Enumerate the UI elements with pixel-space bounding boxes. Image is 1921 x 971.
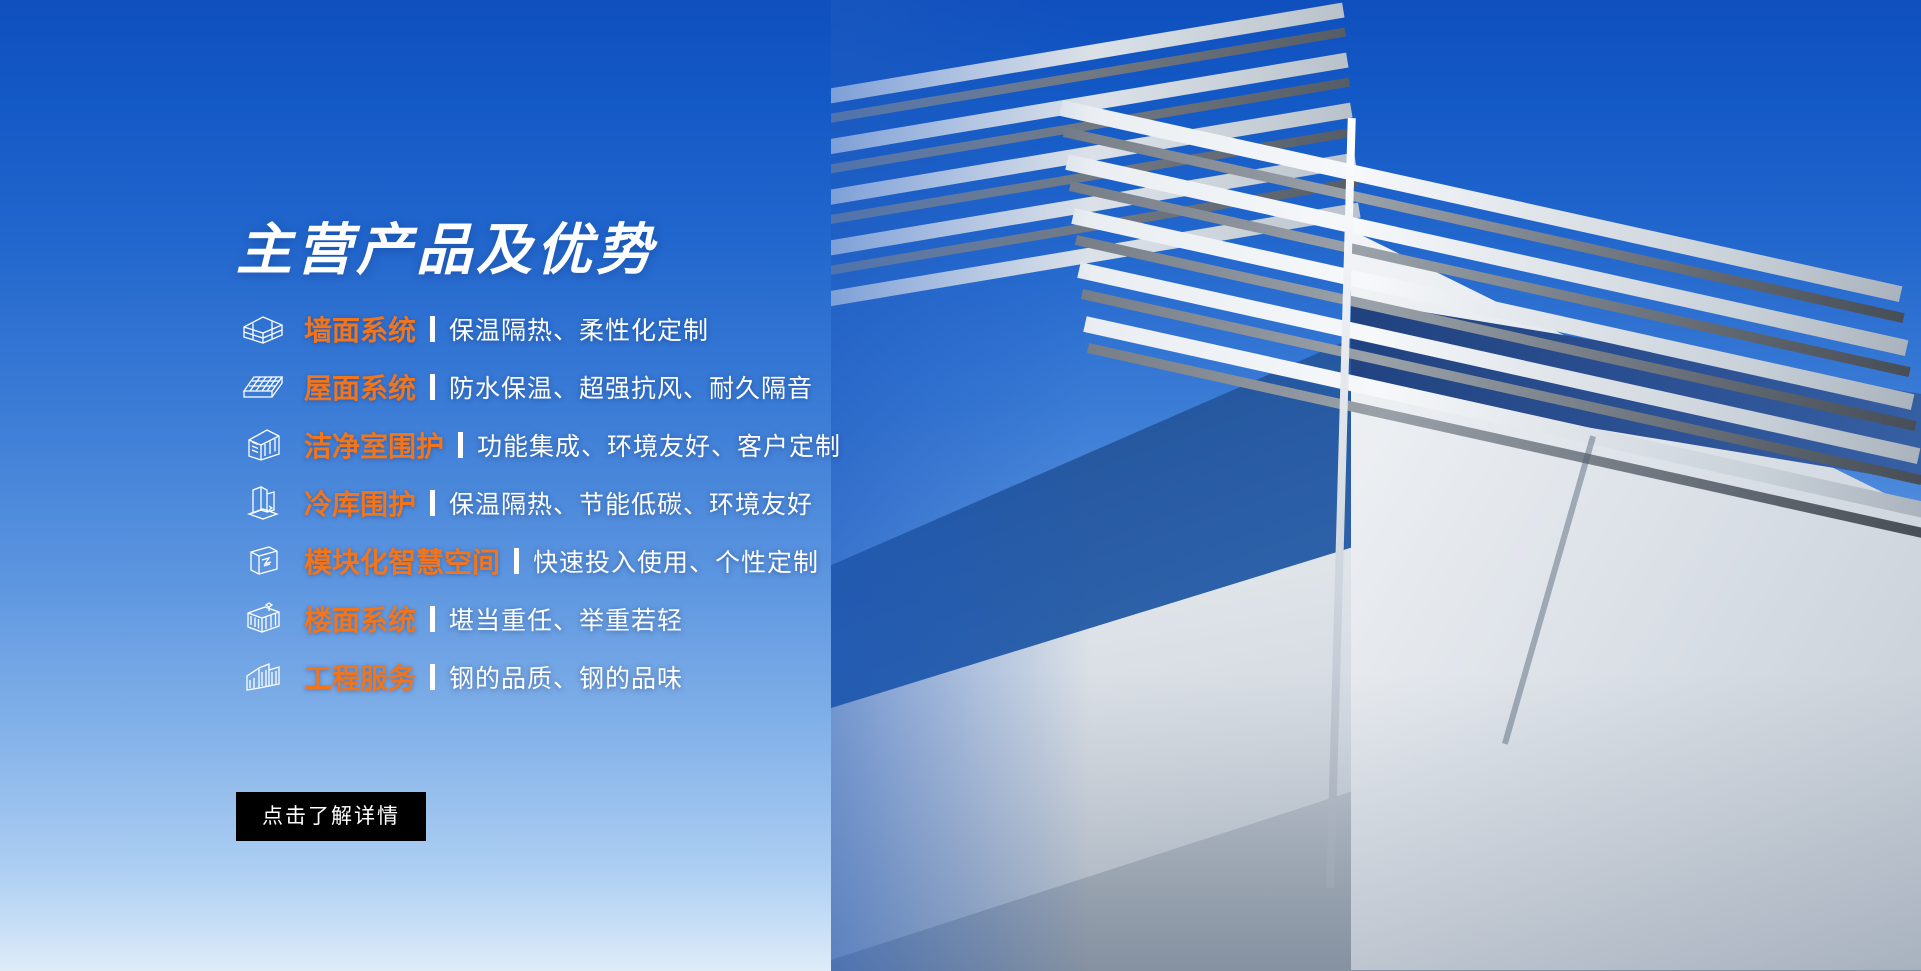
feature-separator: [430, 664, 435, 690]
cold-storage-icon: [236, 482, 290, 524]
modular-space-icon: [236, 540, 290, 582]
list-item[interactable]: 冷库围护 保温隔热、节能低碳、环境友好: [236, 474, 1136, 532]
feature-name: 工程服务: [304, 657, 416, 697]
feature-name: 楼面系统: [304, 599, 416, 639]
feature-name: 冷库围护: [304, 483, 416, 523]
feature-separator: [430, 316, 435, 342]
feature-desc: 堪当重任、举重若轻: [449, 601, 683, 637]
feature-name: 洁净室围护: [304, 425, 444, 465]
floor-system-icon: [236, 598, 290, 640]
list-item[interactable]: 洁净室围护 功能集成、环境友好、客户定制: [236, 416, 1136, 474]
feature-separator: [514, 548, 519, 574]
hero-content: 主营产品及优势 墙面系统 保温隔热、柔性化定制: [236, 0, 1136, 971]
list-item[interactable]: 墙面系统 保温隔热、柔性化定制: [236, 300, 1136, 358]
cleanroom-icon: [236, 424, 290, 466]
list-item[interactable]: 工程服务 钢的品质、钢的品味: [236, 648, 1136, 706]
engineering-service-icon: [236, 656, 290, 698]
cta-learn-more-button[interactable]: 点击了解详情: [236, 792, 426, 841]
feature-separator: [430, 374, 435, 400]
feature-desc: 防水保温、超强抗风、耐久隔音: [449, 369, 813, 405]
feature-desc: 保温隔热、柔性化定制: [449, 311, 709, 347]
feature-separator: [458, 432, 463, 458]
page-title: 主营产品及优势: [236, 205, 656, 286]
list-item[interactable]: 模块化智慧空间 快速投入使用、个性定制: [236, 532, 1136, 590]
feature-name: 模块化智慧空间: [304, 541, 500, 581]
feature-name: 墙面系统: [304, 309, 416, 349]
wall-system-icon: [236, 308, 290, 350]
hero-banner: 主营产品及优势 墙面系统 保温隔热、柔性化定制: [0, 0, 1921, 971]
feature-separator: [430, 490, 435, 516]
roof-slats-right: [1081, 60, 1921, 580]
feature-desc: 功能集成、环境友好、客户定制: [477, 427, 841, 463]
feature-name: 屋面系统: [304, 367, 416, 407]
feature-desc: 保温隔热、节能低碳、环境友好: [449, 485, 813, 521]
feature-desc: 钢的品质、钢的品味: [449, 659, 683, 695]
feature-desc: 快速投入使用、个性定制: [533, 543, 819, 579]
list-item[interactable]: 楼面系统 堪当重任、举重若轻: [236, 590, 1136, 648]
feature-separator: [430, 606, 435, 632]
roof-system-icon: [236, 366, 290, 408]
list-item[interactable]: 屋面系统 防水保温、超强抗风、耐久隔音: [236, 358, 1136, 416]
feature-list: 墙面系统 保温隔热、柔性化定制 屋面系统 防水保温、超强抗风、耐久隔音: [236, 300, 1136, 706]
